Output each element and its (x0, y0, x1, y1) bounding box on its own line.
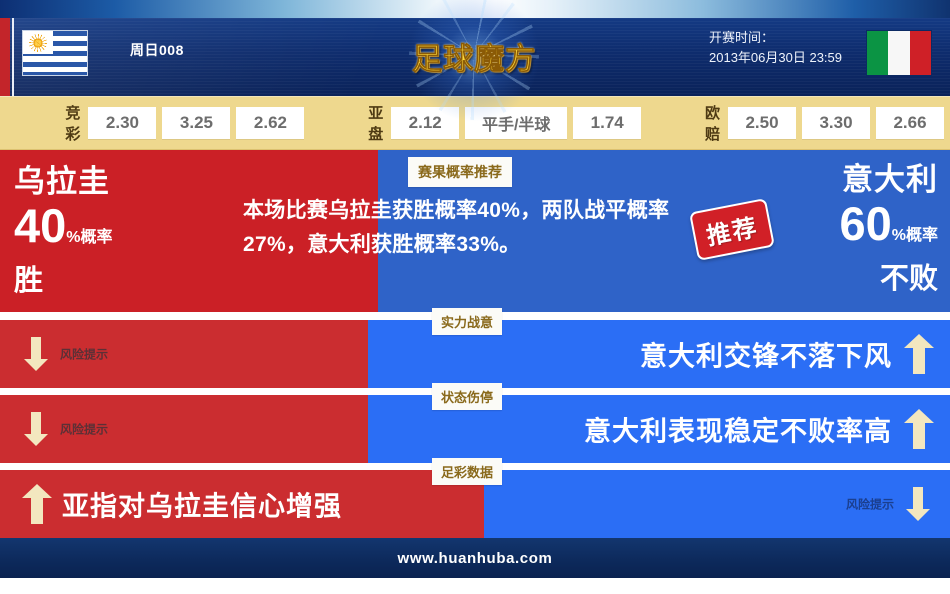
odds-yapan-away: 1.74 (573, 107, 641, 139)
home-team-name: 乌拉圭 (14, 164, 113, 200)
insight-row-2-left-text: 风险提示 (60, 421, 108, 438)
odds-label-jingcai: 竞彩 (65, 102, 80, 144)
kickoff-info: 开赛时间： 2013年06月30日 23:59 (709, 28, 842, 68)
away-team-flag (866, 30, 932, 76)
insight-row-3-right-text: 风险提示 (846, 496, 894, 513)
logo-text: 足球魔方 (412, 34, 536, 78)
insight-row-3-tag: 足彩数据 (432, 458, 502, 485)
insight-row-3-left-text: 亚指对乌拉圭信心增强 (62, 485, 342, 524)
probability-section-tag: 赛果概率推荐 (408, 157, 512, 187)
insight-row-1: 风险提示 意大利交锋不落下风 实力战意 (0, 320, 950, 388)
odds-jingcai-draw: 3.25 (162, 107, 230, 139)
insight-row-3-left: 亚指对乌拉圭信心增强 (0, 470, 484, 538)
home-probability-text: 乌拉圭 40%概率 胜 (14, 164, 113, 298)
match-forecast-graphic: 周日008 足球魔方 开赛时间： 2013年06月30日 23:59 竞彩 2.… (0, 0, 950, 594)
up-arrow-icon (904, 409, 934, 449)
bottom-white-strip (0, 578, 950, 594)
down-arrow-icon (24, 412, 48, 446)
recommend-stamp-label: 推荐 (704, 214, 760, 250)
insight-row-3: 亚指对乌拉圭信心增强 风险提示 足彩数据 (0, 470, 950, 538)
away-team-name: 意大利 (839, 162, 938, 198)
match-number: 周日008 (130, 40, 184, 60)
insight-row-2-tag: 状态伤停 (432, 383, 502, 410)
header-white-divider (12, 18, 14, 96)
down-arrow-icon (906, 487, 930, 521)
insight-row-2-right-text: 意大利表现稳定不败率高 (584, 410, 892, 449)
odds-group-jingcai: 竞彩 2.30 3.25 2.62 (57, 102, 310, 144)
insight-row-1-left-text: 风险提示 (60, 346, 108, 363)
odds-oupei-home: 2.50 (728, 107, 796, 139)
footer-site-url: www.huanhuba.com (398, 550, 553, 567)
italy-flag-icon (866, 30, 932, 76)
insight-row-1-right-text: 意大利交锋不落下风 (640, 335, 892, 374)
away-percent-value: 60 (839, 197, 891, 250)
home-result-label: 胜 (14, 264, 113, 298)
odds-group-oupei: 欧赔 2.50 3.30 2.66 (697, 102, 950, 144)
odds-label-yapan: 亚盘 (368, 102, 383, 144)
insight-row-1-left: 风险提示 (0, 320, 368, 388)
kickoff-time: 2013年06月30日 23:59 (709, 48, 842, 68)
odds-oupei-draw: 3.30 (802, 107, 870, 139)
sun-of-may-icon (32, 37, 44, 49)
home-percent-suffix: %概率 (66, 229, 112, 246)
uruguay-flag-icon (22, 30, 88, 76)
insight-row-1-tag: 实力战意 (432, 308, 502, 335)
odds-jingcai-away: 2.62 (236, 107, 304, 139)
odds-jingcai-home: 2.30 (88, 107, 156, 139)
site-logo: 足球魔方 (400, 20, 548, 92)
kickoff-label: 开赛时间： (709, 28, 842, 48)
up-arrow-icon (904, 334, 934, 374)
insight-row-3-right: 风险提示 (484, 470, 950, 538)
insight-row-2: 风险提示 意大利表现稳定不败率高 状态伤停 (0, 395, 950, 463)
probability-summary: 本场比赛乌拉圭获胜概率40%，两队战平概率27%，意大利获胜概率33%。 (243, 194, 677, 262)
footer-bar: www.huanhuba.com (0, 538, 950, 578)
odds-oupei-away: 2.66 (876, 107, 944, 139)
away-result-label: 不败 (839, 262, 938, 296)
header-red-accent (0, 18, 10, 96)
odds-label-oupei: 欧赔 (705, 102, 720, 144)
insight-row-2-left: 风险提示 (0, 395, 368, 463)
down-arrow-icon (24, 337, 48, 371)
away-probability-text: 意大利 60%概率 不败 (839, 162, 938, 296)
up-arrow-icon (22, 484, 52, 524)
home-percent-value: 40 (14, 199, 66, 252)
home-team-flag (22, 30, 88, 76)
away-percent-suffix: %概率 (892, 227, 938, 244)
